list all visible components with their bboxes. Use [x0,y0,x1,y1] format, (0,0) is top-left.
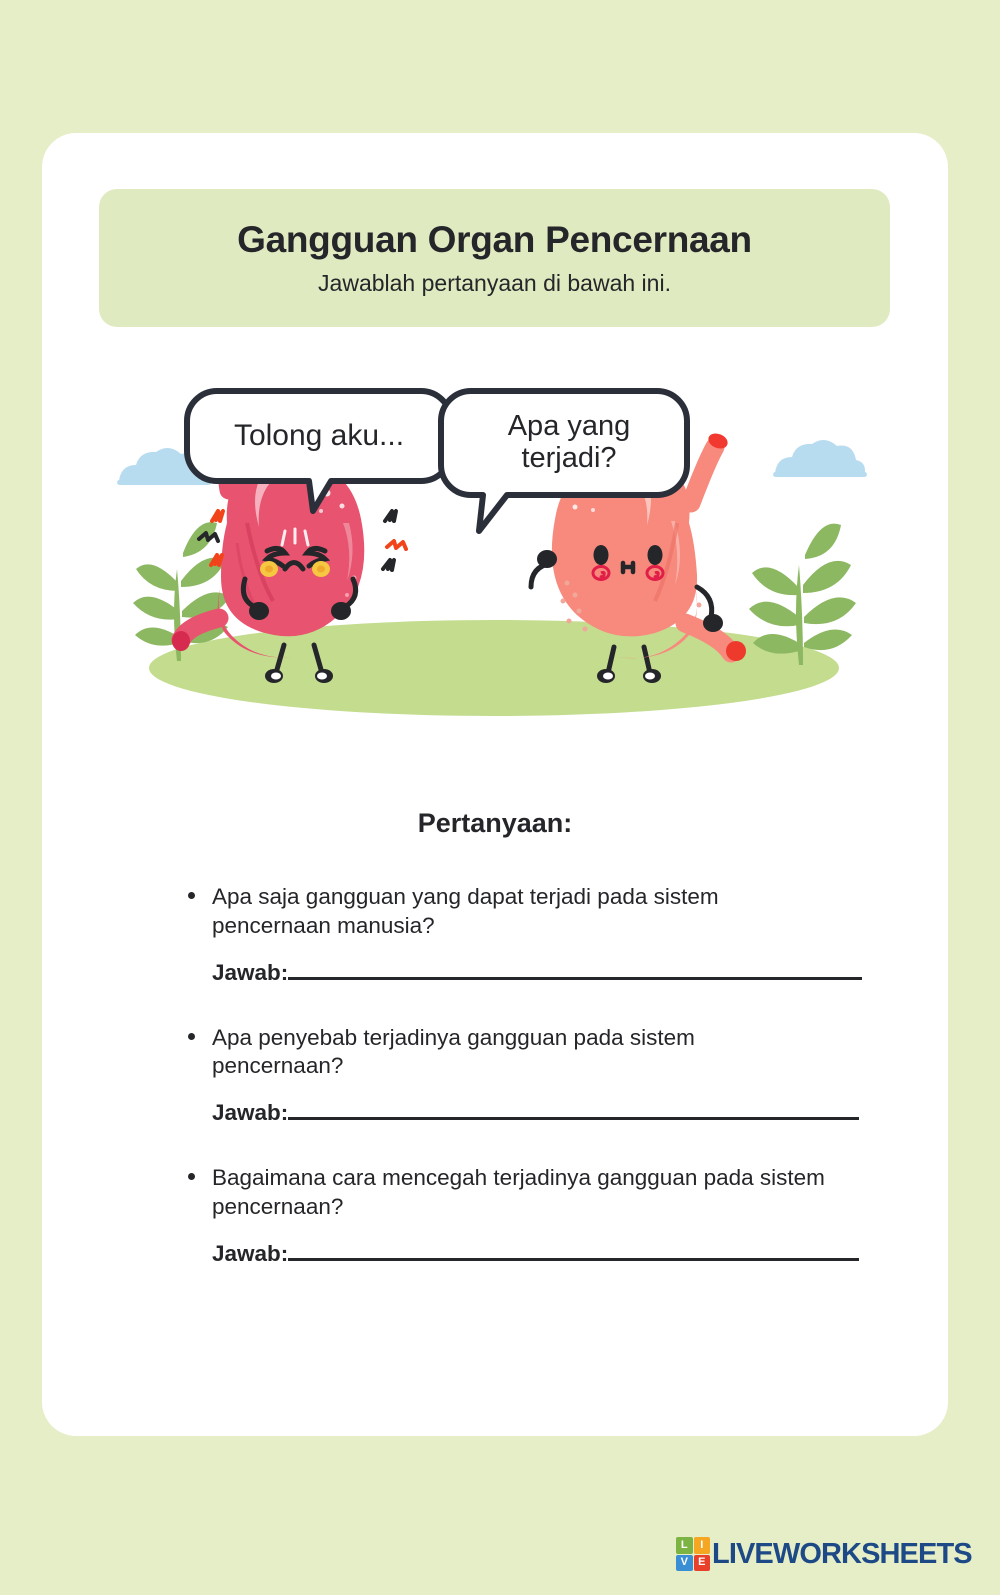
question-text-1: Apa saja gangguan yang dapat terjadi pad… [212,883,832,941]
questions-list: Apa saja gangguan yang dapat terjadi pad… [182,883,862,1267]
answer-row-1: Jawab: [212,960,862,986]
header-banner: Gangguan Organ Pencernaan Jawablah perta… [99,189,890,327]
logo-cell-v: V [676,1555,693,1572]
question-text-3: Bagaimana cara mencegah terjadinya gangg… [212,1164,832,1222]
logo-cell-l: L [676,1537,693,1554]
bullet-icon [188,1033,195,1040]
question-text-2: Apa penyebab terjadinya gangguan pada si… [212,1024,832,1082]
page-title: Gangguan Organ Pencernaan [237,219,752,261]
answer-input-3[interactable] [288,1258,859,1261]
page-subtitle: Jawablah pertanyaan di bawah ini. [318,270,671,297]
worksheet-card: Gangguan Organ Pencernaan Jawablah perta… [42,133,948,1436]
answer-input-1[interactable] [288,977,862,980]
answer-label-1: Jawab: [212,960,288,986]
liveworksheets-logo[interactable]: L I V E LIVEWORKSHEETS [676,1537,972,1571]
logo-grid-icon: L I V E [676,1537,710,1571]
logo-cell-i: I [694,1537,711,1554]
answer-input-2[interactable] [288,1117,859,1120]
bubble-text-2-line1: Apa yang [508,410,631,442]
question-item-1: Apa saja gangguan yang dapat terjadi pad… [182,883,862,986]
plant-right [749,524,856,665]
ground-ellipse [149,620,839,716]
pain-zigzag-right [383,511,406,570]
answer-row-3: Jawab: [212,1241,862,1267]
answer-row-2: Jawab: [212,1100,862,1126]
bullet-icon [188,892,195,899]
answer-label-2: Jawab: [212,1100,288,1126]
cloud-right-icon [773,440,867,477]
logo-wordmark: LIVEWORKSHEETS [712,1538,972,1571]
pain-zigzag-left [199,511,223,565]
bubble-text-2-line2: terjadi? [521,442,616,474]
questions-heading: Pertanyaan: [42,808,948,839]
question-item-2: Apa penyebab terjadinya gangguan pada si… [182,1024,862,1127]
stomach-illustration: Tolong aku... Apa yang terjadi? [99,373,890,723]
answer-label-3: Jawab: [212,1241,288,1267]
question-item-3: Bagaimana cara mencegah terjadinya gangg… [182,1164,862,1267]
bullet-icon [188,1173,195,1180]
bubble-text-1: Tolong aku... [234,419,404,452]
logo-cell-e: E [694,1555,711,1572]
